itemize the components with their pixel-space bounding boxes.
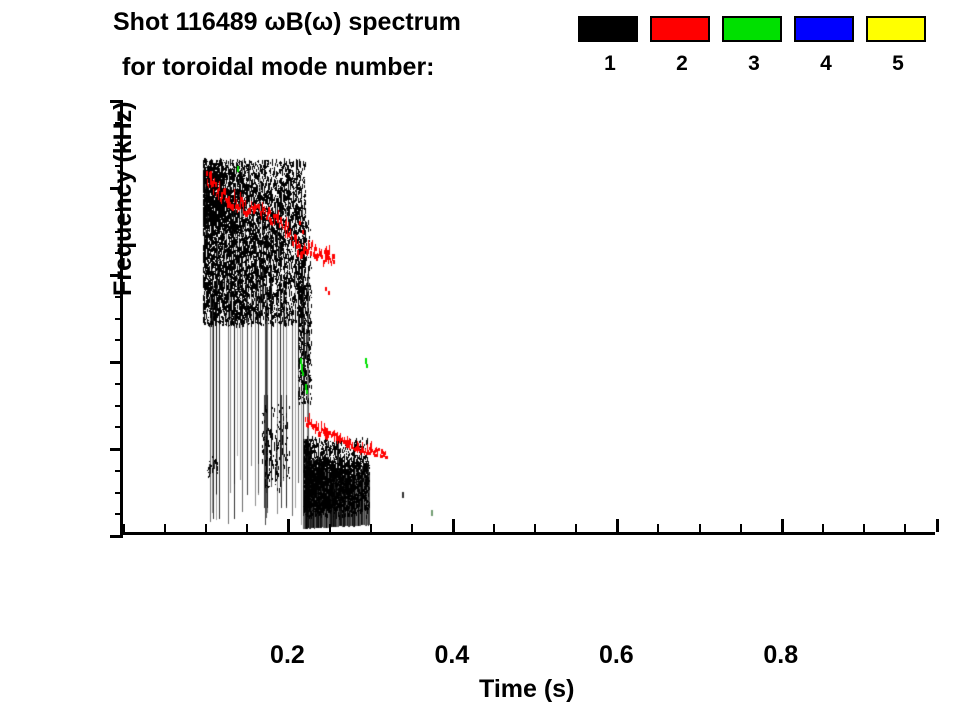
y-tick-minor — [115, 209, 123, 211]
x-tick-minor — [411, 524, 413, 532]
figure-title-line-1: Shot 116489 ωB(ω) spectrum — [113, 8, 461, 37]
x-tick-minor — [822, 524, 824, 532]
x-tick-minor — [205, 524, 207, 532]
legend-entry-3[interactable]: 3 — [722, 16, 784, 42]
y-tick-minor — [115, 513, 123, 515]
x-tick-minor — [493, 524, 495, 532]
legend-caption: for toroidal mode number: — [122, 53, 435, 81]
y-tick-minor — [115, 296, 123, 298]
x-tick-minor — [863, 524, 865, 532]
y-tick-major — [110, 361, 123, 364]
x-tick-major — [781, 519, 784, 532]
legend-entry-5[interactable]: 5 — [866, 16, 928, 42]
legend-swatch-1 — [578, 16, 638, 42]
x-tick-minor — [246, 524, 248, 532]
y-tick-minor — [115, 405, 123, 407]
x-tick-minor — [534, 524, 536, 532]
legend-label-2: 2 — [650, 52, 714, 76]
y-tick-minor — [115, 231, 123, 233]
x-tick-label: 0.4 — [407, 643, 497, 668]
x-tick-major — [287, 519, 290, 532]
x-tick-minor — [123, 524, 125, 532]
x-tick-label: 0.6 — [571, 643, 661, 668]
x-tick-label: 0.8 — [736, 643, 826, 668]
figure-title-line-2: for toroidal mode number: — [122, 53, 435, 82]
y-tick-major — [110, 187, 123, 190]
y-tick-minor — [115, 383, 123, 385]
legend: 12345 — [578, 16, 958, 94]
x-tick-minor — [370, 524, 372, 532]
legend-swatch-5 — [866, 16, 926, 42]
y-tick-minor — [115, 252, 123, 254]
legend-swatch-3 — [722, 16, 782, 42]
x-axis-title: Time (s) — [479, 675, 574, 704]
y-tick-minor — [115, 426, 123, 428]
x-tick-minor — [699, 524, 701, 532]
legend-label-5: 5 — [866, 52, 930, 76]
x-tick-major — [452, 519, 455, 532]
legend-label-4: 4 — [794, 52, 858, 76]
y-tick-minor — [115, 122, 123, 124]
x-tick-minor — [164, 524, 166, 532]
plot-frame: Frequency (kHz) Time (s) 0204060801000.2… — [120, 100, 935, 535]
x-tick-minor — [575, 524, 577, 532]
x-tick-minor — [657, 524, 659, 532]
y-tick-minor — [115, 339, 123, 341]
y-tick-minor — [115, 144, 123, 146]
y-tick-major — [110, 535, 123, 538]
legend-entry-2[interactable]: 2 — [650, 16, 712, 42]
y-tick-major — [110, 100, 123, 103]
spectrogram-figure: Shot 116489 ωB(ω) spectrum for toroidal … — [0, 0, 963, 615]
x-tick-minor — [904, 524, 906, 532]
y-tick-major — [110, 274, 123, 277]
legend-swatch-2 — [650, 16, 710, 42]
y-tick-minor — [115, 165, 123, 167]
legend-swatch-4 — [794, 16, 854, 42]
y-tick-minor — [115, 318, 123, 320]
x-tick-label: 0.2 — [242, 643, 332, 668]
y-tick-minor — [115, 470, 123, 472]
legend-label-1: 1 — [578, 52, 642, 76]
x-tick-major — [616, 519, 619, 532]
y-tick-major — [110, 448, 123, 451]
legend-entry-1[interactable]: 1 — [578, 16, 640, 42]
figure-title-text: Shot 116489 ωB(ω) spectrum — [113, 8, 461, 36]
legend-label-3: 3 — [722, 52, 786, 76]
y-axis-title: Frequency (kHz) — [109, 102, 138, 296]
x-tick-major — [936, 519, 939, 532]
legend-entry-4[interactable]: 4 — [794, 16, 856, 42]
x-tick-minor — [740, 524, 742, 532]
y-tick-minor — [115, 492, 123, 494]
x-tick-minor — [329, 524, 331, 532]
